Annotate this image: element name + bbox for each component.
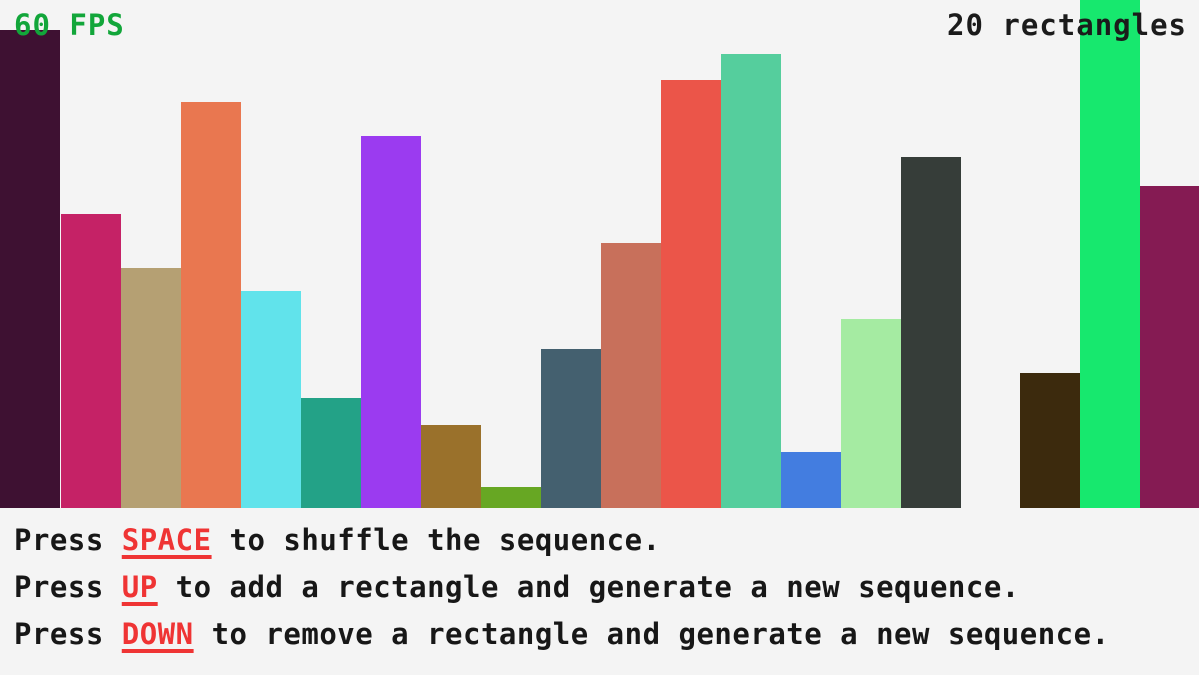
bar-rectangle — [481, 487, 541, 508]
instruction-line: Press UP to add a rectangle and generate… — [14, 573, 1199, 602]
bar-rectangle — [181, 102, 241, 508]
rectangle-chart — [0, 0, 1199, 508]
bar-rectangle — [781, 452, 841, 508]
bar-rectangle — [1080, 0, 1140, 508]
keyboard-key-down[interactable]: DOWN — [122, 617, 194, 651]
rectangle-count-label: 20 rectangles — [947, 8, 1187, 42]
bar-rectangle — [601, 243, 661, 508]
app-stage: 60 FPS 20 rectangles Press SPACE to shuf… — [0, 0, 1199, 675]
bar-rectangle — [361, 136, 421, 508]
bar-rectangle — [721, 54, 781, 508]
bar-rectangle — [541, 349, 601, 508]
bar-rectangle — [61, 214, 121, 508]
instruction-suffix: to shuffle the sequence. — [212, 523, 661, 557]
instruction-suffix: to add a rectangle and generate a new se… — [158, 570, 1020, 604]
instruction-prefix: Press — [14, 523, 122, 557]
instruction-line: Press DOWN to remove a rectangle and gen… — [14, 620, 1199, 649]
instructions-panel: Press SPACE to shuffle the sequence.Pres… — [0, 510, 1199, 675]
instruction-line: Press SPACE to shuffle the sequence. — [14, 526, 1199, 555]
bar-rectangle — [1140, 186, 1199, 508]
bar-rectangle — [241, 291, 301, 508]
keyboard-key-space[interactable]: SPACE — [122, 523, 212, 557]
keyboard-key-up[interactable]: UP — [122, 570, 158, 604]
instruction-suffix: to remove a rectangle and generate a new… — [194, 617, 1110, 651]
bar-rectangle — [121, 268, 181, 508]
instruction-prefix: Press — [14, 570, 122, 604]
bar-rectangle — [0, 30, 60, 508]
fps-counter: 60 FPS — [14, 8, 125, 42]
bar-rectangle — [661, 80, 721, 508]
bar-rectangle — [1020, 373, 1080, 508]
bar-rectangle — [901, 157, 961, 508]
bar-rectangle — [301, 398, 361, 508]
instruction-prefix: Press — [14, 617, 122, 651]
bar-rectangle — [841, 319, 901, 508]
bar-rectangle — [421, 425, 481, 508]
